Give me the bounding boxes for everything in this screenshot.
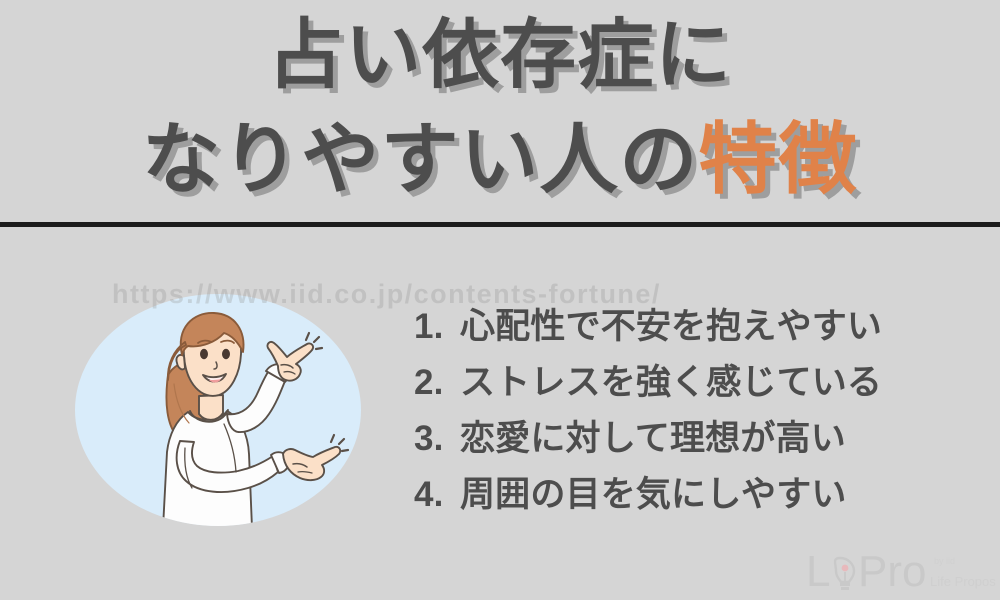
infographic-canvas: 占い依存症に なりやすい人の特徴 https://www.iid.co.jp/c…	[0, 0, 1000, 600]
list-item-number: 1.	[414, 307, 460, 347]
logo-word-pro: Pro	[858, 548, 926, 596]
list-item-number: 3.	[414, 419, 460, 459]
lightbulb-filament-dot	[842, 565, 849, 572]
title-accent-word: 特徴	[699, 115, 858, 203]
title-line-2: なりやすい人の特徴	[0, 120, 1000, 198]
logo-byline: by iid	[934, 556, 955, 566]
list-item: 2. ストレスを強く感じている	[414, 354, 974, 410]
list-item-number: 4.	[414, 475, 460, 515]
neck	[199, 395, 223, 420]
list-item-text: 心配性で不安を抱えやすい	[460, 298, 882, 349]
list-item-text: ストレスを強く感じている	[460, 354, 882, 405]
list-item: 1. 心配性で不安を抱えやすい	[414, 298, 974, 354]
left-eye	[200, 349, 208, 359]
right-eye	[222, 349, 230, 359]
list-item-number: 2.	[414, 363, 460, 403]
lipro-logo: L Pro Life Proposal by iid	[806, 548, 996, 596]
title-line-1: 占い依存症に	[0, 18, 1000, 94]
ear	[176, 355, 185, 369]
list-item: 3. 恋愛に対して理想が高い	[414, 410, 974, 466]
logo-letter-l: L	[806, 548, 830, 596]
lightbulb-icon	[835, 558, 854, 590]
header-band: 占い依存症に なりやすい人の特徴	[0, 0, 1000, 222]
title-line-2-plain: なりやすい人の	[142, 115, 699, 203]
logo-tagline: Life Proposal	[930, 574, 996, 589]
list-item-text: 恋愛に対して理想が高い	[460, 410, 846, 461]
list-item-text: 周囲の目を気にしやすい	[460, 466, 847, 517]
list-item: 4. 周囲の目を気にしやすい	[414, 466, 974, 522]
feature-list: 1. 心配性で不安を抱えやすい 2. ストレスを強く感じている 3. 恋愛に対し…	[414, 298, 974, 522]
woman-pointing-illustration	[72, 292, 364, 528]
